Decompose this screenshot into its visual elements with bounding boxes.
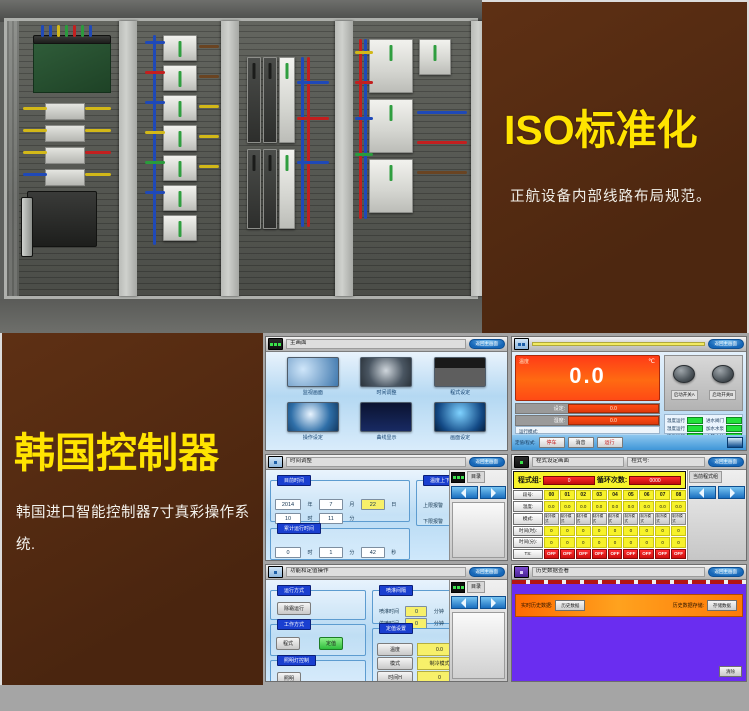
operation-icon bbox=[268, 566, 283, 578]
knob-label: 启动开关B bbox=[709, 390, 736, 400]
group-header: 照明灯控制 bbox=[277, 655, 316, 666]
sidebar-header: 目录 bbox=[450, 470, 507, 484]
iso-title: ISO标准化 bbox=[504, 110, 744, 151]
spray-off-unit: 分钟 bbox=[434, 621, 444, 627]
run-info-box: 运行模式: 模式编号: 运行时间: 000 时 00 分 累计时间: 000 时… bbox=[515, 426, 660, 434]
hmi-screen-body: 程式组: 0 循环次数: 0000 段号: 00 01 02 03 04 05 … bbox=[512, 470, 746, 560]
sidebar-arrows bbox=[450, 594, 507, 611]
history-action-band: 实时历史数据: 历史数据 历史数据存储: 存储数据 bbox=[515, 594, 743, 617]
row-label: 时间(时): bbox=[513, 526, 543, 536]
auxiliary-relay bbox=[419, 39, 451, 75]
menu-tile-operation[interactable]: 操作设定 bbox=[277, 402, 349, 445]
table-cell[interactable]: 制冷模式 bbox=[544, 513, 559, 525]
table-row: 温度: 0.0 0.0 0.0 0.0 0.0 0.0 0.0 0.0 0.0 bbox=[513, 501, 686, 511]
wire-green bbox=[355, 153, 373, 156]
terminal-block bbox=[45, 125, 85, 142]
menu-grid-icon bbox=[268, 338, 283, 350]
status-led bbox=[726, 425, 742, 432]
row-label: 模式: bbox=[513, 513, 543, 525]
mute-button[interactable]: 消音 bbox=[568, 437, 594, 448]
table-cell[interactable]: 0 bbox=[623, 537, 638, 547]
knob-label: 启动开关A bbox=[671, 390, 698, 400]
setpoint-label: 设定: bbox=[516, 405, 568, 412]
cabinet-base bbox=[0, 299, 482, 333]
controller-title: 韩国控制器 bbox=[14, 433, 264, 474]
knob-a[interactable]: 启动开关A bbox=[671, 365, 698, 401]
table-cell[interactable]: 0.0 bbox=[655, 501, 670, 511]
wire-blue bbox=[41, 25, 44, 37]
history-left-label: 实时历史数据: bbox=[521, 602, 552, 609]
heat-sink bbox=[21, 197, 33, 257]
wire-yellow bbox=[23, 151, 47, 154]
hmi-time-adjust: 时间调整 返回主画面 目前时间 2014 年 7 月 22 日 10 bbox=[265, 454, 508, 561]
table-cell[interactable]: 制冷模式 bbox=[560, 513, 575, 525]
program-mode-button[interactable]: 程式 bbox=[276, 637, 300, 650]
runtime-hour: 0 bbox=[275, 547, 301, 558]
circuit-breaker bbox=[163, 35, 197, 61]
status-label: 进水阀门 bbox=[706, 418, 724, 424]
status-indicator-panel: 温度运行 进水阀门 湿度运行 加水水泵 bbox=[664, 414, 743, 434]
right-arrow-icon[interactable] bbox=[480, 596, 507, 609]
cabinet-bay-1 bbox=[19, 21, 119, 296]
table-row: 模式: 制冷模式 制冷模式 制冷模式 制冷模式 制冷模式 制冷模式 制冷模式 制… bbox=[513, 513, 686, 525]
history-right-label: 历史数据存储: bbox=[673, 602, 704, 609]
status-item: 温度运行 bbox=[667, 417, 703, 424]
wire-blue bbox=[297, 161, 329, 164]
light-button[interactable]: 照明 bbox=[277, 672, 301, 682]
run-button[interactable]: 运行 bbox=[597, 437, 623, 448]
status-item: 进水阀门 bbox=[706, 417, 742, 424]
return-main-button[interactable]: 返回主画面 bbox=[469, 339, 506, 348]
return-main-button[interactable]: 返回主画面 bbox=[708, 457, 745, 466]
table-cell: 01 bbox=[560, 490, 575, 500]
table-cell[interactable]: 0.0 bbox=[608, 501, 623, 511]
table-cell[interactable]: 0 bbox=[623, 526, 638, 536]
wire-brown bbox=[199, 45, 219, 48]
left-arrow-icon[interactable] bbox=[451, 486, 478, 499]
table-row: 段号: 00 01 02 03 04 05 06 07 08 bbox=[513, 490, 686, 500]
wire-blue bbox=[23, 173, 47, 176]
table-cell[interactable]: 制冷模式 bbox=[592, 513, 607, 525]
wire-yellow bbox=[199, 105, 219, 108]
runtime-second: 42 bbox=[361, 547, 385, 558]
status-led bbox=[726, 417, 742, 424]
hmi-history-data: 历史数据查看 返回主画面 实时历史数据: 历史数据 历史数据存储: 存储数据 清… bbox=[511, 564, 747, 682]
relay-module bbox=[369, 99, 413, 153]
table-cell[interactable]: OFF bbox=[608, 549, 623, 559]
return-main-button[interactable]: 返回主画面 bbox=[708, 567, 745, 576]
temperature-display: 温度 ℃ 0.0 bbox=[515, 355, 660, 401]
table-cell[interactable]: 0 bbox=[544, 526, 559, 536]
sidebar-arrows bbox=[688, 484, 746, 501]
table-cell[interactable]: 0 bbox=[560, 526, 575, 536]
wire-yellow bbox=[23, 129, 47, 132]
return-main-button[interactable]: 返回主画面 bbox=[469, 567, 506, 576]
menu-grid-icon bbox=[451, 582, 465, 593]
sidebar-label: 目录 bbox=[467, 471, 485, 483]
circuit-breaker bbox=[163, 125, 197, 151]
wire-red bbox=[297, 117, 329, 120]
table-cell[interactable]: 0.0 bbox=[671, 501, 686, 511]
return-main-button[interactable]: 返回主画面 bbox=[708, 339, 745, 348]
hmi-title bbox=[532, 342, 705, 346]
wire-yellow bbox=[145, 131, 165, 134]
power-supply-module bbox=[27, 191, 97, 247]
table-cell[interactable]: 制冷模式 bbox=[576, 513, 591, 525]
clock-icon bbox=[360, 357, 412, 387]
status-led bbox=[687, 417, 703, 424]
hmi-titlebar: 主画面 返回主画面 bbox=[266, 337, 507, 352]
terminal-strip bbox=[33, 35, 111, 44]
table-cell[interactable]: 制冷模式 bbox=[671, 513, 686, 525]
hmi-screen-body: 目前时间 2014 年 7 月 22 日 10 时 11 分 bbox=[266, 470, 507, 560]
group-header: 喷淋间隔 bbox=[379, 585, 413, 596]
minute-unit: 分 bbox=[349, 516, 354, 522]
wire-yellow bbox=[23, 107, 47, 110]
terminal-block bbox=[45, 103, 85, 120]
cabinet-bay-3 bbox=[239, 21, 335, 296]
sidebar-panel bbox=[452, 502, 505, 558]
status-item: 湿度运行 bbox=[667, 425, 703, 432]
table-cell: 00 bbox=[544, 490, 559, 500]
group-header: 运行方式 bbox=[277, 585, 311, 596]
status-label: 温度运行 bbox=[667, 418, 685, 424]
alarm-high-label: 上限报警 bbox=[423, 503, 443, 509]
wire-red bbox=[145, 71, 165, 74]
table-cell[interactable]: OFF bbox=[639, 549, 654, 559]
program-icon bbox=[514, 456, 529, 468]
program-icon bbox=[434, 357, 486, 387]
current-time-group: 目前时间 2014 年 7 月 22 日 10 时 11 分 bbox=[270, 480, 410, 522]
table-cell[interactable]: 0 bbox=[655, 537, 670, 547]
table-cell[interactable]: OFF bbox=[623, 549, 638, 559]
din-rail-divider bbox=[221, 21, 239, 296]
din-rail-divider bbox=[335, 21, 353, 296]
wire-blue bbox=[417, 111, 467, 114]
contactor bbox=[279, 57, 295, 143]
table-cell: 08 bbox=[671, 490, 686, 500]
gauges-icon bbox=[287, 357, 339, 387]
wire-brown bbox=[417, 171, 467, 174]
program-sidebar: 当前程式组 bbox=[687, 470, 746, 560]
cabinet-bay-4 bbox=[353, 21, 471, 296]
hmi-titlebar: 功能和定值操作 返回主画面 bbox=[266, 565, 507, 580]
circuit-breaker bbox=[163, 155, 197, 181]
circuit-breaker bbox=[163, 185, 197, 211]
tile-label: 监视画面 bbox=[303, 389, 323, 396]
tile-label: 操作设定 bbox=[303, 434, 323, 441]
menu-tile-screen[interactable]: 画面设定 bbox=[424, 402, 496, 445]
runtime-hour-unit: 时 bbox=[307, 550, 312, 556]
table-cell[interactable]: 0 bbox=[592, 526, 607, 536]
wire-blue bbox=[145, 41, 165, 44]
temperature-value: 0.0 bbox=[516, 365, 659, 387]
status-label: 加水水泵 bbox=[706, 426, 724, 432]
light-group: 照明灯控制 照明 bbox=[270, 660, 366, 682]
mode-label: 定值/程式: bbox=[515, 440, 536, 446]
setpoint-value: 0.0 bbox=[568, 404, 659, 413]
setpoint-row: 设定: 0.0 bbox=[515, 403, 660, 414]
wire-green bbox=[81, 25, 84, 37]
group-header: 目前时间 bbox=[277, 475, 311, 486]
table-cell[interactable]: 0 bbox=[576, 526, 591, 536]
wire-yellow bbox=[85, 173, 111, 176]
table-cell[interactable]: 0 bbox=[576, 537, 591, 547]
table-cell: 06 bbox=[639, 490, 654, 500]
menu-tile-time[interactable]: 时间调整 bbox=[351, 357, 423, 400]
manual-run-button[interactable]: 除霜运行 bbox=[277, 602, 311, 615]
sidebar-panel bbox=[452, 612, 505, 679]
table-cell: 04 bbox=[608, 490, 623, 500]
contactor bbox=[247, 149, 261, 229]
menu-tile-curve[interactable]: 曲线显示 bbox=[351, 402, 423, 445]
sidebar-header: 目录 bbox=[450, 580, 507, 594]
info-line: 累计时间: 000 时 00 分 bbox=[519, 450, 656, 451]
wire-blue bbox=[297, 81, 329, 84]
sidebar-header: 当前程式组 bbox=[688, 470, 746, 484]
table-cell[interactable]: 0 bbox=[671, 526, 686, 536]
hmi-screen-body: 运行方式 除霜运行 工作方式 程式 定值 照明灯控制 照明 喷淋间隔 喷淋时间 bbox=[266, 580, 507, 681]
sidebar-label: 目录 bbox=[467, 581, 485, 593]
hmi-screens-grid: 主画面 返回主画面 监视画面 时间调整 程式设定 bbox=[263, 333, 749, 685]
sidebar-arrows bbox=[450, 484, 507, 501]
cabinet-interior bbox=[7, 21, 475, 296]
hmi-titlebar: 程式设定画面 程式号: 返回主画面 bbox=[512, 455, 746, 470]
tile-label: 时间调整 bbox=[376, 389, 396, 396]
table-cell[interactable]: 0.0 bbox=[576, 501, 591, 511]
wire-red bbox=[359, 39, 362, 219]
rotary-knob-icon bbox=[712, 365, 734, 383]
table-cell: 07 bbox=[655, 490, 670, 500]
table-cell[interactable]: OFF bbox=[671, 549, 686, 559]
screen-icon bbox=[434, 402, 486, 432]
iso-description: 正航设备内部线路布局规范。 bbox=[510, 182, 732, 214]
hmi-titlebar: 返回主画面 bbox=[512, 337, 746, 352]
control-board bbox=[33, 43, 111, 93]
hmi-screen-body: 监视画面 时间调整 程式设定 操作设定 bbox=[266, 352, 507, 450]
table-cell[interactable]: OFF bbox=[576, 549, 591, 559]
rotary-knob-icon bbox=[673, 365, 695, 383]
promo-page: ISO标准化 正航设备内部线路布局规范。 韩国控制器 韩国进口智能控制器7寸真彩… bbox=[0, 0, 749, 711]
table-cell: 03 bbox=[592, 490, 607, 500]
table-cell[interactable]: 制冷模式 bbox=[608, 513, 623, 525]
wire-red bbox=[85, 151, 111, 154]
table-cell[interactable]: 0.0 bbox=[639, 501, 654, 511]
row-label: 段号: bbox=[513, 490, 543, 500]
status-item: 加水水泵 bbox=[706, 425, 742, 432]
table-cell[interactable]: 0 bbox=[655, 526, 670, 536]
history-data-button[interactable]: 历史数据 bbox=[555, 600, 585, 611]
hmi-monitor: 返回主画面 温度 ℃ 0.0 设定: 0.0 湿度: 0.0 运行模式: bbox=[511, 336, 747, 451]
table-cell[interactable]: 0 bbox=[608, 526, 623, 536]
store-data-button[interactable]: 存储数据 bbox=[707, 600, 737, 611]
wire-yellow bbox=[199, 165, 219, 168]
right-arrow-icon[interactable] bbox=[480, 486, 507, 499]
hmi-title-extra: 程式号: bbox=[627, 457, 704, 467]
wire-green bbox=[65, 25, 68, 37]
row-label: 时间(分): bbox=[513, 537, 543, 547]
knob-b[interactable]: 启动开关B bbox=[709, 365, 736, 401]
work-mode-group: 工作方式 程式 定值 bbox=[270, 624, 366, 656]
decorative-strip bbox=[512, 580, 746, 584]
menu-tiles: 监视画面 时间调整 程式设定 操作设定 bbox=[269, 355, 504, 447]
program-group-value[interactable]: 0 bbox=[543, 476, 595, 485]
hmi-screen-body: 实时历史数据: 历史数据 历史数据存储: 存储数据 清除 bbox=[512, 580, 746, 681]
wire-red bbox=[417, 141, 467, 144]
contactor bbox=[263, 57, 277, 143]
table-cell[interactable]: 0 bbox=[671, 537, 686, 547]
table-cell[interactable]: 0 bbox=[560, 537, 575, 547]
program-table: 段号: 00 01 02 03 04 05 06 07 08 温度: 0.0 bbox=[513, 490, 686, 559]
table-cell[interactable]: OFF bbox=[544, 549, 559, 559]
temperature-unit: ℃ bbox=[648, 358, 655, 365]
run-mode-group: 运行方式 除霜运行 bbox=[270, 590, 366, 620]
table-cell[interactable]: 0.0 bbox=[544, 501, 559, 511]
minute-field[interactable]: 11 bbox=[319, 513, 343, 524]
wire-blue bbox=[49, 25, 52, 37]
wire-blue bbox=[364, 39, 367, 219]
hmi-screen-body: 温度 ℃ 0.0 设定: 0.0 湿度: 0.0 运行模式: 模式编号: 运行时… bbox=[512, 352, 746, 450]
wire-green bbox=[145, 161, 165, 164]
relay-module bbox=[369, 159, 413, 213]
table-cell[interactable]: 0.0 bbox=[560, 501, 575, 511]
table-cell[interactable]: OFF bbox=[560, 549, 575, 559]
wire-blue bbox=[355, 117, 373, 120]
hmi-sidebar: 目录 bbox=[449, 580, 507, 681]
wire-red bbox=[73, 25, 76, 37]
day-field[interactable]: 22 bbox=[361, 499, 385, 510]
wire-blue bbox=[145, 191, 165, 194]
circuit-breaker bbox=[163, 95, 197, 121]
left-arrow-icon[interactable] bbox=[689, 486, 716, 499]
status-tile bbox=[727, 437, 743, 448]
menu-tile-program[interactable]: 程式设定 bbox=[424, 357, 496, 400]
stop-button[interactable]: 停车 bbox=[539, 437, 565, 448]
left-arrow-icon[interactable] bbox=[451, 596, 478, 609]
hmi-title: 时间调整 bbox=[286, 457, 466, 467]
table-cell: 05 bbox=[623, 490, 638, 500]
table-row: 时间(时): 0 0 0 0 0 0 0 0 0 bbox=[513, 526, 686, 536]
row-label: 温度: bbox=[513, 501, 543, 511]
return-main-button[interactable]: 返回主画面 bbox=[469, 457, 506, 466]
cycles-label: 循环次数: bbox=[597, 475, 627, 485]
hmi-titlebar: 历史数据查看 返回主画面 bbox=[512, 565, 746, 580]
group-header: 定值设置 bbox=[379, 623, 413, 634]
humidity-label: 湿度: bbox=[516, 417, 568, 424]
monitor-bottom-bar: 定值/程式: 停车 消音 运行 bbox=[512, 435, 746, 450]
group-header: 工作方式 bbox=[277, 619, 311, 630]
hmi-title: 历史数据查看 bbox=[532, 567, 705, 577]
runtime-second-unit: 秒 bbox=[391, 550, 396, 556]
hmi-sidebar: 目录 bbox=[449, 470, 507, 560]
table-cell[interactable]: 0 bbox=[592, 537, 607, 547]
humidity-row: 湿度: 0.0 bbox=[515, 415, 660, 426]
wire-yellow bbox=[85, 129, 111, 132]
hmi-title: 功能和定值操作 bbox=[286, 567, 466, 577]
table-cell[interactable]: 0 bbox=[639, 537, 654, 547]
program-header-band: 程式组: 0 循环次数: 0000 bbox=[513, 471, 686, 489]
iso-panel: ISO标准化 正航设备内部线路布局规范。 bbox=[482, 0, 749, 333]
table-cell[interactable]: OFF bbox=[655, 549, 670, 559]
wire-yellow bbox=[355, 51, 373, 54]
wire-red bbox=[355, 81, 373, 84]
day-unit: 日 bbox=[391, 502, 396, 508]
table-cell[interactable]: 制冷模式 bbox=[655, 513, 670, 525]
sidebar-label: 当前程式组 bbox=[689, 471, 722, 483]
wire-yellow bbox=[57, 25, 60, 37]
table-cell[interactable]: OFF bbox=[592, 549, 607, 559]
table-cell[interactable]: 0 bbox=[608, 537, 623, 547]
contactor bbox=[247, 57, 261, 143]
wire-blue bbox=[153, 35, 156, 245]
contactor bbox=[263, 149, 277, 229]
curve-icon bbox=[360, 402, 412, 432]
table-cell: 02 bbox=[576, 490, 591, 500]
right-arrow-icon[interactable] bbox=[718, 486, 745, 499]
terminal-block bbox=[45, 169, 85, 186]
controller-panel: 韩国控制器 韩国进口智能控制器7寸真彩操作系统. bbox=[0, 333, 263, 685]
temperature-label: 温度 bbox=[519, 358, 529, 365]
hmi-program-setting: 程式设定画面 程式号: 返回主画面 程式组: 0 循环次数: 0000 段号: … bbox=[511, 454, 747, 561]
status-label: 湿度运行 bbox=[667, 426, 685, 432]
history-right-group: 历史数据存储: 存储数据 bbox=[673, 600, 737, 611]
runtime-group: 累计运行时间 0 时 1 分 42 秒 bbox=[270, 528, 410, 560]
circuit-breaker bbox=[163, 65, 197, 91]
electrical-cabinet-photo bbox=[0, 0, 482, 333]
table-row: TS: OFF OFF OFF OFF OFF OFF OFF OFF OFF bbox=[513, 549, 686, 559]
runtime-minute-unit: 分 bbox=[349, 550, 354, 556]
operation-icon bbox=[287, 402, 339, 432]
cabinet-frame bbox=[4, 18, 478, 299]
wire-blue bbox=[145, 101, 165, 104]
hour-unit: 时 bbox=[307, 516, 312, 522]
program-group-label: 程式组: bbox=[518, 475, 541, 485]
wire-brown bbox=[199, 75, 219, 78]
table-cell[interactable]: 0.0 bbox=[592, 501, 607, 511]
humidity-value: 0.0 bbox=[568, 416, 659, 425]
table-row: 时间(分): 0 0 0 0 0 0 0 0 0 bbox=[513, 537, 686, 547]
wire-blue bbox=[89, 25, 92, 37]
relay-module bbox=[369, 39, 413, 93]
hmi-main-menu: 主画面 返回主画面 监视画面 时间调整 程式设定 bbox=[265, 336, 508, 451]
wire-yellow bbox=[199, 135, 219, 138]
din-rail-divider bbox=[119, 21, 137, 296]
hmi-title: 程式设定画面 bbox=[532, 457, 624, 467]
tile-label: 程式设定 bbox=[450, 389, 470, 396]
cabinet-bay-2 bbox=[137, 21, 221, 296]
table-cell[interactable]: 0 bbox=[544, 537, 559, 547]
status-led bbox=[687, 425, 703, 432]
table-cell[interactable]: 制冷模式 bbox=[623, 513, 638, 525]
circuit-breaker bbox=[163, 215, 197, 241]
controller-description: 韩国进口智能控制器7寸真彩操作系统. bbox=[16, 498, 256, 562]
menu-tile-monitor[interactable]: 监视画面 bbox=[277, 357, 349, 400]
table-cell[interactable]: 0 bbox=[639, 526, 654, 536]
tile-label: 画面设定 bbox=[450, 434, 470, 441]
clock-icon bbox=[268, 456, 283, 468]
clear-button[interactable]: 清除 bbox=[719, 666, 742, 677]
history-icon bbox=[514, 566, 529, 578]
hmi-function-setting: 功能和定值操作 返回主画面 运行方式 除霜运行 工作方式 程式 定值 照明灯控制… bbox=[265, 564, 508, 682]
hmi-title: 主画面 bbox=[286, 339, 466, 349]
table-cell[interactable]: 0.0 bbox=[623, 501, 638, 511]
cycles-value[interactable]: 0000 bbox=[629, 476, 681, 485]
row-label: TS: bbox=[513, 549, 543, 559]
table-cell[interactable]: 制冷模式 bbox=[639, 513, 654, 525]
fixed-mode-button[interactable]: 定值 bbox=[319, 637, 343, 650]
tile-label: 曲线显示 bbox=[376, 434, 396, 441]
runtime-minute: 1 bbox=[319, 547, 343, 558]
